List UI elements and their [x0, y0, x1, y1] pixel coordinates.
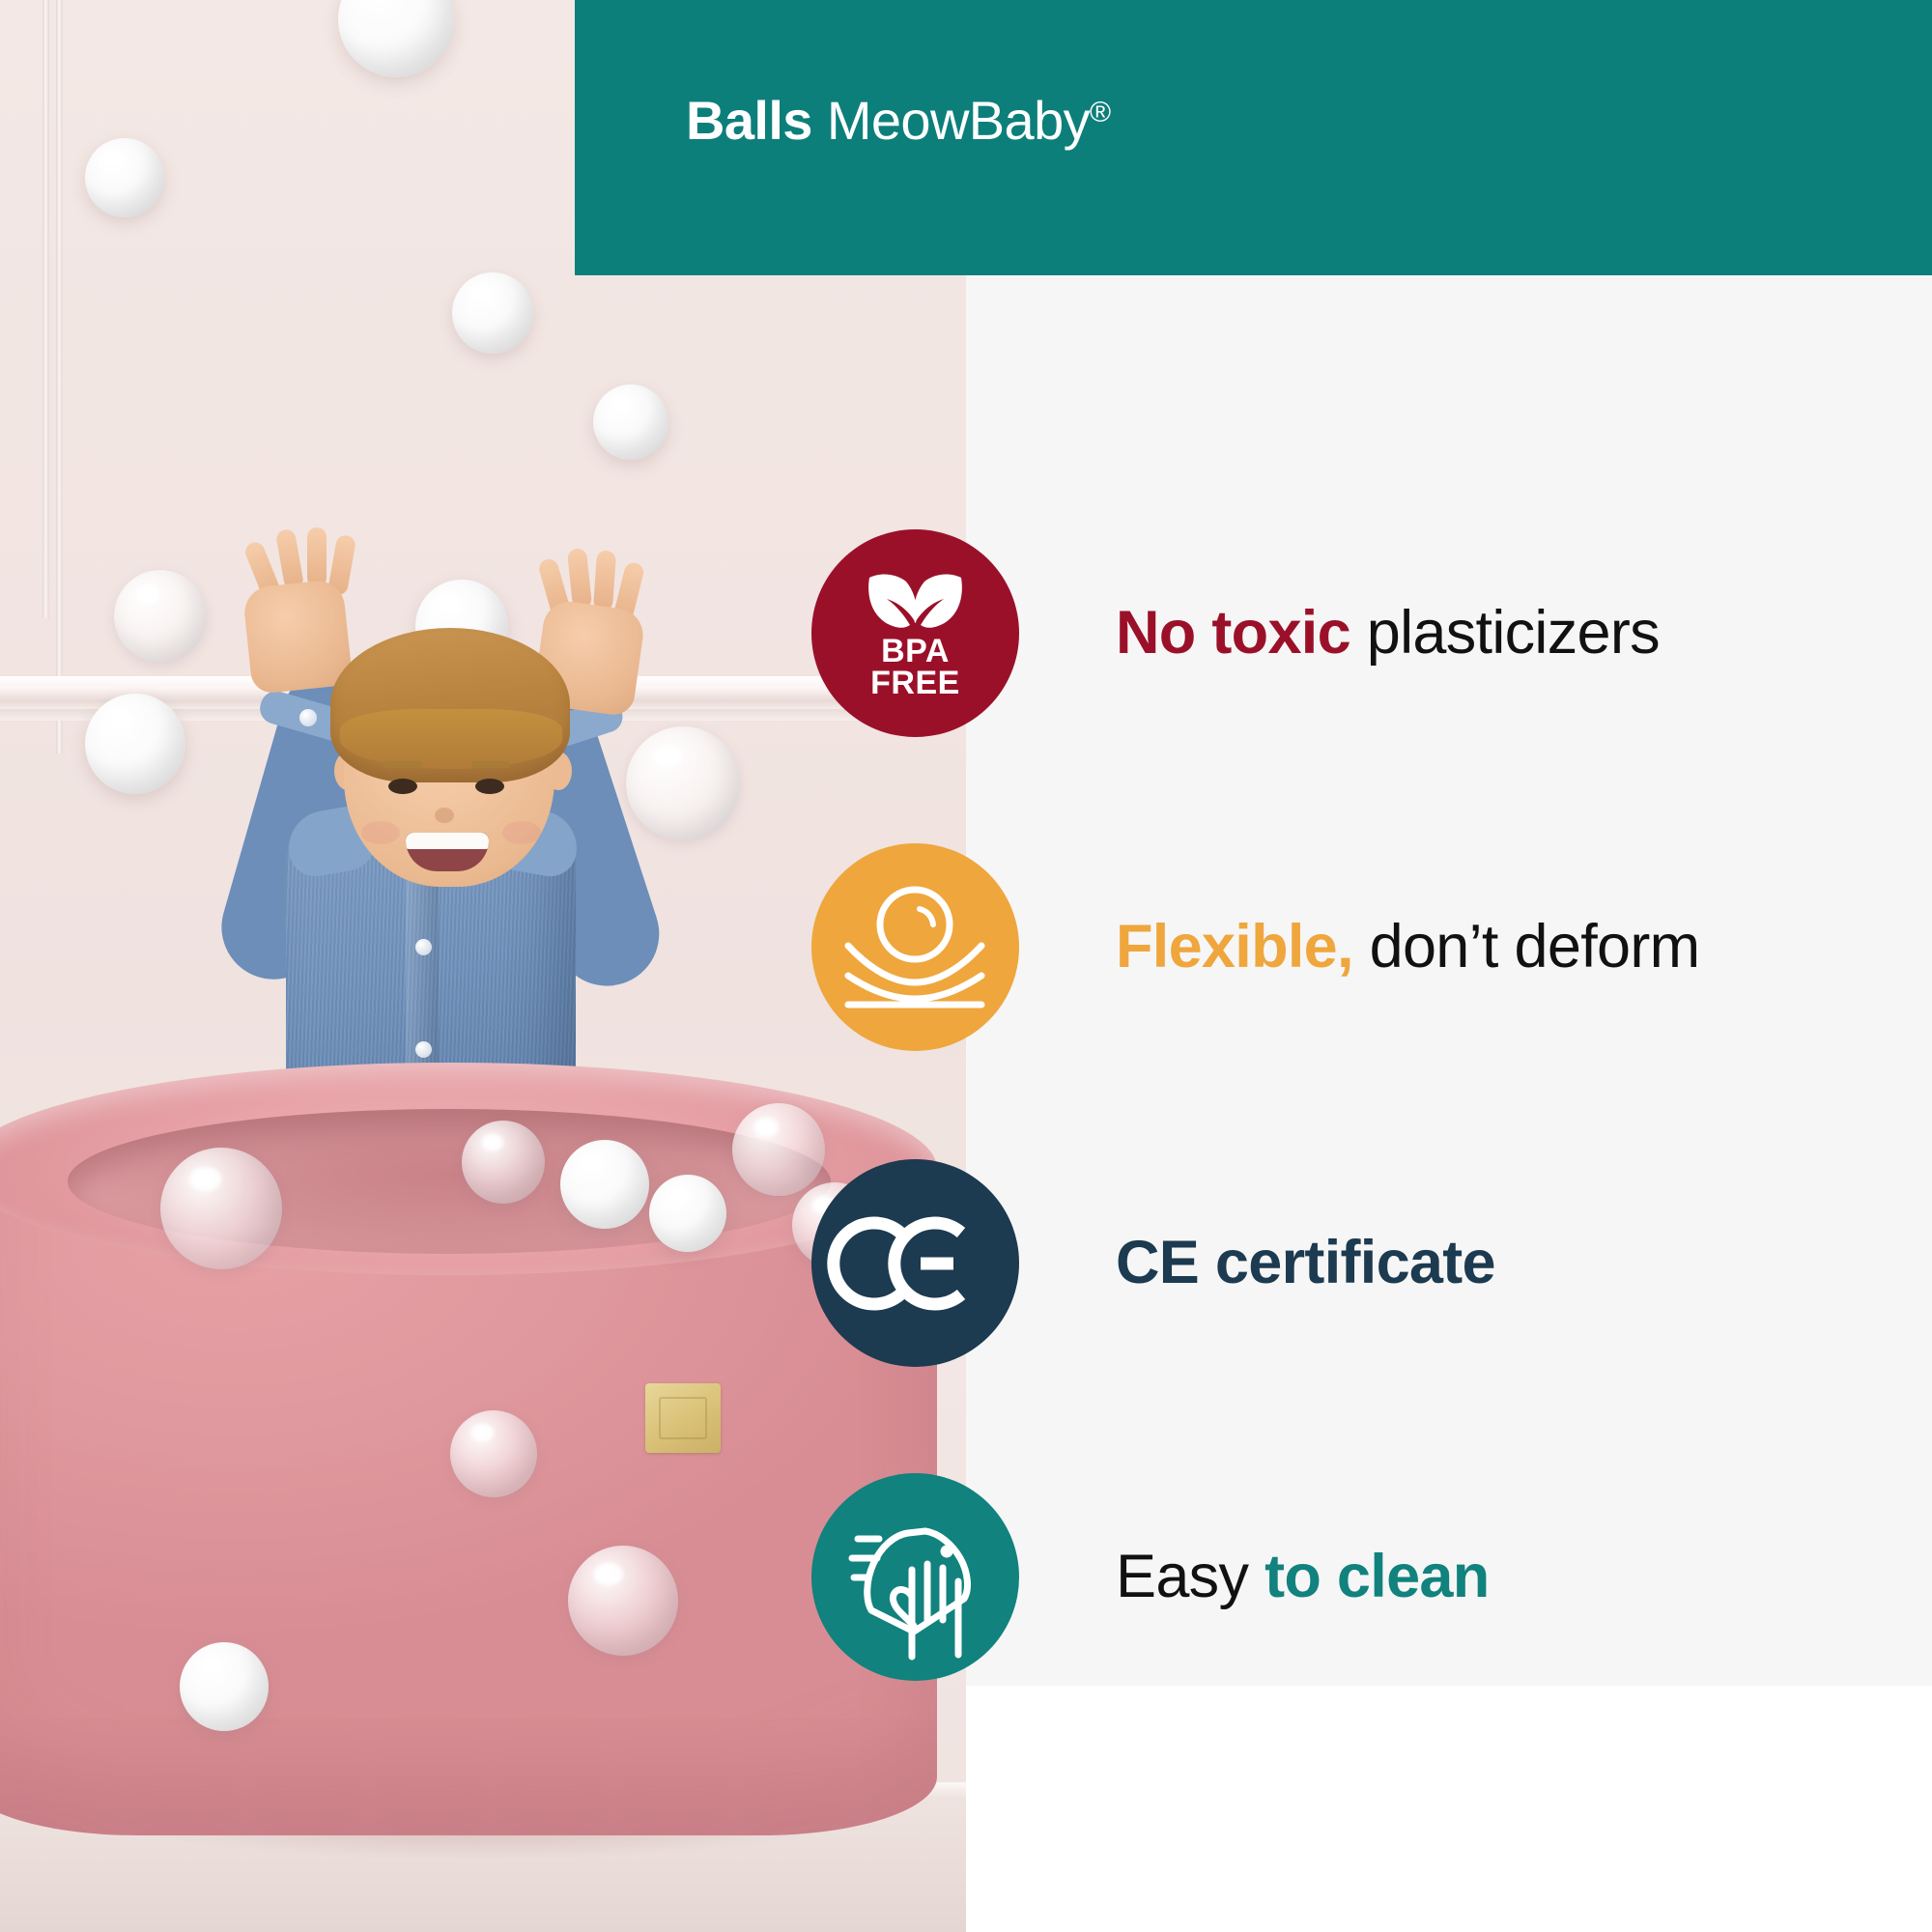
bpa-free-icon: BPA FREE: [811, 529, 1019, 737]
feature-row-ce-certificate: CE certificate: [811, 1159, 1495, 1367]
feature-text-easy-to-clean: Easy to clean: [1116, 1542, 1490, 1612]
feature-text-ce-certificate: CE certificate: [1116, 1228, 1495, 1298]
infographic-canvas: Balls MeowBaby® BPA FREE No toxic plasti…: [0, 0, 1932, 1932]
feature-rest: plasticizers: [1350, 599, 1660, 667]
feature-rest: don’t deform: [1353, 913, 1700, 980]
feature-row-easy-to-clean: Easy to clean: [811, 1473, 1490, 1681]
bpa-line-2: FREE: [811, 668, 1019, 699]
feature-rest: Easy: [1116, 1543, 1264, 1610]
ce-mark-icon: [811, 1159, 1019, 1367]
bpa-line-1: BPA: [811, 636, 1019, 668]
feature-list: BPA FREE No toxic plasticizers: [0, 0, 1932, 1932]
feature-highlight: CE certificate: [1116, 1229, 1495, 1296]
feature-row-flexible: Flexible, don’t deform: [811, 843, 1699, 1051]
cleaning-hand-icon: [811, 1473, 1019, 1681]
feature-text-no-toxic: No toxic plasticizers: [1116, 598, 1660, 668]
feature-text-flexible: Flexible, don’t deform: [1116, 912, 1699, 982]
flexible-ball-icon: [811, 843, 1019, 1051]
bpa-free-label: BPA FREE: [811, 636, 1019, 700]
feature-highlight: No toxic: [1116, 599, 1350, 667]
feature-row-no-toxic: BPA FREE No toxic plasticizers: [811, 529, 1660, 737]
feature-highlight: Flexible,: [1116, 913, 1353, 980]
feature-highlight: to clean: [1264, 1543, 1489, 1610]
